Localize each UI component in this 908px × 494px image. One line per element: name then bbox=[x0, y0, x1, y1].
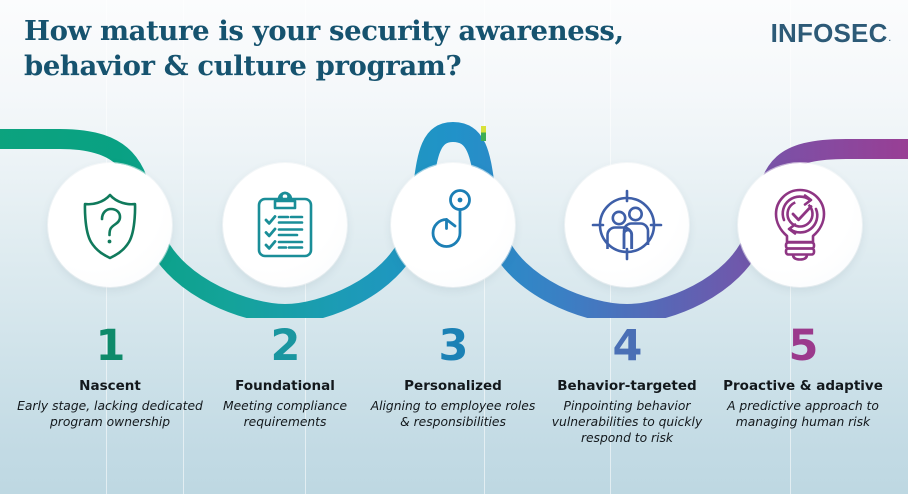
stage-number-5: 5 bbox=[703, 322, 903, 370]
stage-caption-1: 1 Nascent Early stage, lacking dedicated… bbox=[10, 322, 210, 430]
stage-circle-4[interactable] bbox=[565, 163, 689, 287]
lightbulb-check-icon bbox=[764, 187, 836, 263]
clipboard-checklist-icon bbox=[249, 188, 321, 262]
infographic-canvas: How mature is your security awareness, b… bbox=[0, 0, 908, 494]
fish-hook-icon bbox=[418, 187, 488, 263]
progress-marker-icon bbox=[481, 126, 486, 141]
stage-number-1: 1 bbox=[10, 322, 210, 370]
header: How mature is your security awareness, b… bbox=[0, 0, 908, 118]
stage-description-1: Early stage, lacking dedicated program o… bbox=[10, 398, 210, 430]
shield-question-icon bbox=[73, 188, 147, 262]
stage-caption-4: 4 Behavior-targeted Pinpointing behavior… bbox=[527, 322, 727, 446]
stage-description-3: Aligning to employee roles & responsibil… bbox=[353, 398, 553, 430]
stage-title-1: Nascent bbox=[10, 378, 210, 395]
stage-circle-1[interactable] bbox=[48, 163, 172, 287]
page-title: How mature is your security awareness, b… bbox=[24, 14, 714, 84]
stage-circle-5[interactable] bbox=[738, 163, 862, 287]
brand-logo: INFOSEC. bbox=[771, 18, 890, 49]
stage-description-4: Pinpointing behavior vulnerabilities to … bbox=[527, 398, 727, 446]
trademark-mark: . bbox=[889, 34, 891, 43]
stage-caption-5: 5 Proactive & adaptive A predictive appr… bbox=[703, 322, 903, 430]
stage-circle-3[interactable] bbox=[391, 163, 515, 287]
stage-circle-2[interactable] bbox=[223, 163, 347, 287]
stage-title-4: Behavior-targeted bbox=[527, 378, 727, 395]
stage-caption-3: 3 Personalized Aligning to employee role… bbox=[353, 322, 553, 430]
stage-number-3: 3 bbox=[353, 322, 553, 370]
stage-title-5: Proactive & adaptive bbox=[703, 378, 903, 395]
stage-number-4: 4 bbox=[527, 322, 727, 370]
people-target-icon bbox=[589, 187, 665, 263]
stage-title-3: Personalized bbox=[353, 378, 553, 395]
stage-description-5: A predictive approach to managing human … bbox=[703, 398, 903, 430]
brand-logo-text: INFOSEC bbox=[771, 18, 888, 48]
